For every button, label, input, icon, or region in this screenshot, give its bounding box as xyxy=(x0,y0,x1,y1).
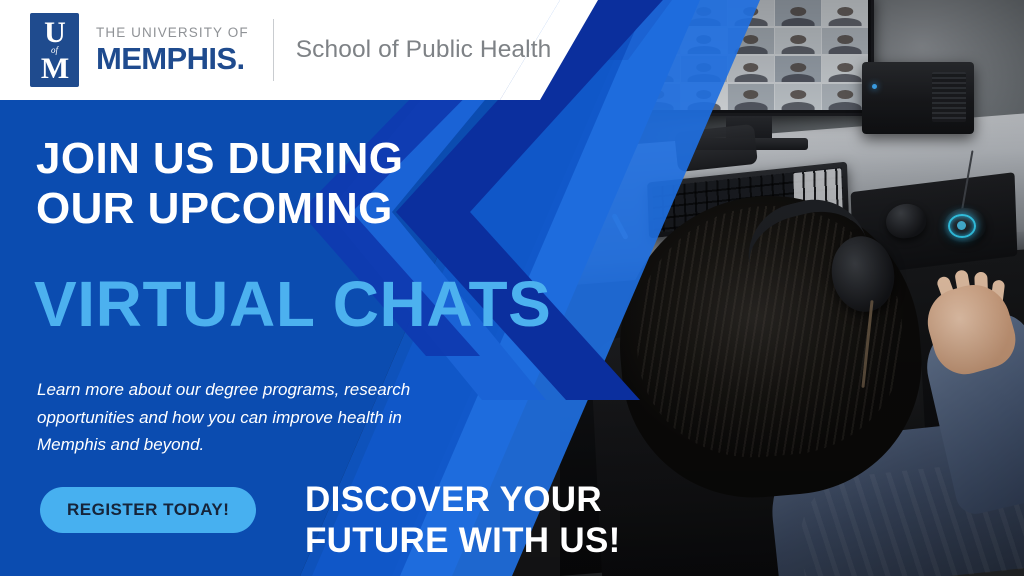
video-participant-tile xyxy=(634,84,680,110)
uofm-shield-icon: U of M xyxy=(30,13,79,87)
video-participant-tile xyxy=(681,84,727,110)
headline: Join us during our upcoming xyxy=(36,134,466,233)
desk-cup xyxy=(586,126,630,160)
video-participant-tile xyxy=(634,28,680,54)
body-copy: Learn more about our degree programs, re… xyxy=(37,376,437,459)
promotional-poster: U of M THE UNIVERSITY OF MEMPHIS. School… xyxy=(0,0,1024,576)
tagline: Discover your future with us! xyxy=(305,479,665,562)
video-participant-tile xyxy=(728,0,774,26)
video-participant-tile xyxy=(681,0,727,26)
video-participant-tile xyxy=(775,56,821,82)
video-participant-tile xyxy=(634,0,680,26)
video-participant-tile xyxy=(634,56,680,82)
video-participant-tile xyxy=(681,28,727,54)
mouse-logo xyxy=(957,221,966,230)
header-band: U of M THE UNIVERSITY OF MEMPHIS. School… xyxy=(0,0,598,100)
register-today-button[interactable]: Register Today! xyxy=(40,487,256,533)
shield-letter-m: M xyxy=(41,54,68,84)
video-participant-tile xyxy=(775,28,821,54)
shield-letters: U of M xyxy=(36,19,73,81)
video-call-grid xyxy=(634,0,868,110)
university-wordmark: THE UNIVERSITY OF MEMPHIS. xyxy=(96,26,249,74)
unit-name: School of Public Health xyxy=(296,36,552,64)
wordmark-line-1: THE UNIVERSITY OF xyxy=(96,26,249,40)
video-participant-tile xyxy=(681,56,727,82)
wordmark-line-2: MEMPHIS. xyxy=(96,43,249,74)
feature-title: Virtual Chats xyxy=(34,272,551,336)
microphone-arm xyxy=(674,124,758,172)
header-divider xyxy=(273,19,274,81)
video-participant-tile xyxy=(775,84,821,110)
tower-vent xyxy=(932,72,966,122)
video-participant-tile xyxy=(822,28,868,54)
video-participant-tile xyxy=(822,0,868,26)
speaker-tower xyxy=(862,62,974,134)
shield-letter-u: U xyxy=(44,18,65,48)
video-participant-tile xyxy=(775,0,821,26)
video-participant-tile xyxy=(728,56,774,82)
video-participant-tile xyxy=(728,84,774,110)
university-logo[interactable]: U of M THE UNIVERSITY OF MEMPHIS. xyxy=(30,13,249,87)
tower-power-led xyxy=(872,84,877,89)
video-participant-tile xyxy=(728,28,774,54)
computer-monitor xyxy=(628,0,874,116)
